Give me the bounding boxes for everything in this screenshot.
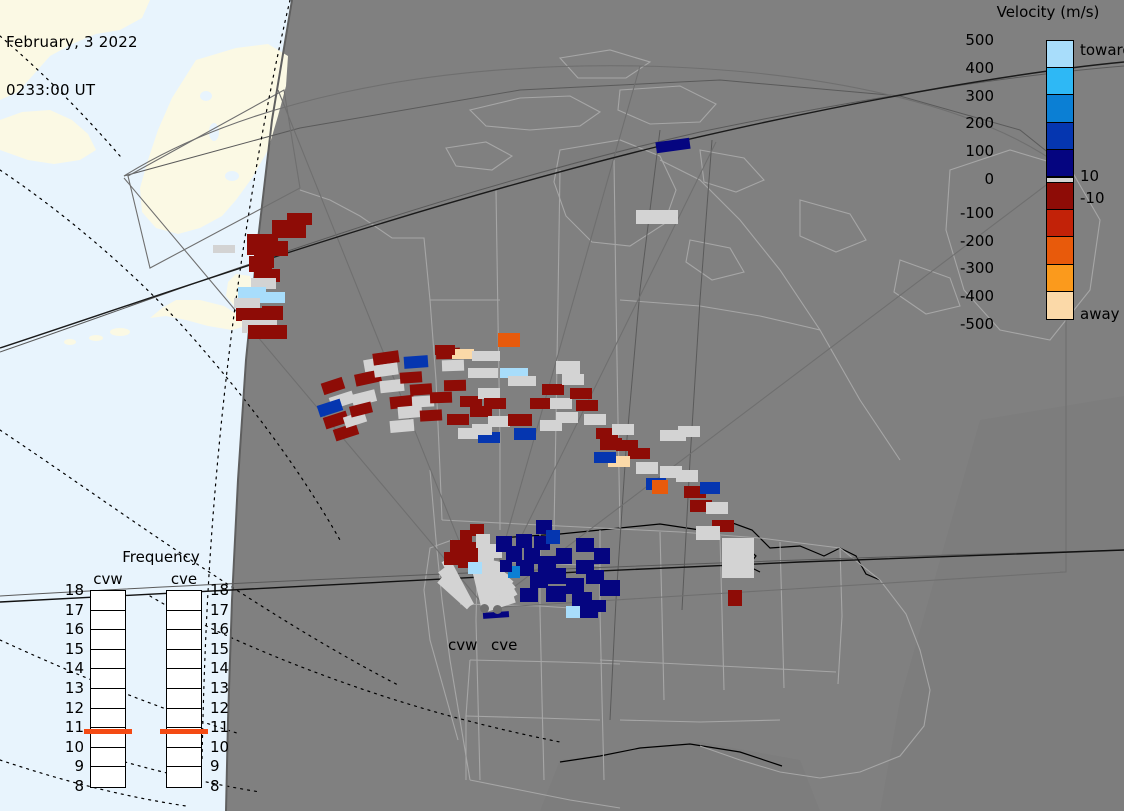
- frequency-scale-box-cve: [166, 590, 202, 788]
- colorbar-band-150: [1047, 123, 1073, 150]
- velocity-cell: [390, 419, 415, 433]
- frequency-scale-cell: [167, 591, 201, 611]
- frequency-tick-cvw-11: 11: [65, 718, 84, 736]
- velocity-cell: [594, 548, 610, 564]
- frequency-tick-cve-14: 14: [210, 659, 229, 677]
- velocity-cell: [546, 530, 560, 544]
- colorbar-label-away: away: [1080, 305, 1120, 323]
- velocity-cell: [594, 452, 616, 463]
- velocity-cell: [478, 388, 500, 399]
- velocity-cell: [452, 349, 474, 359]
- colorbar-band--350: [1047, 265, 1073, 292]
- velocity-cell: [516, 534, 532, 548]
- frequency-scale-cell: [167, 611, 201, 631]
- velocity-cell: [468, 368, 498, 378]
- velocity-cell: [562, 374, 584, 385]
- velocity-cell: [542, 384, 564, 395]
- colorbar-band--450: [1047, 292, 1073, 319]
- velocity-cell: [442, 360, 464, 372]
- velocity-cell: [498, 333, 520, 347]
- velocity-cell: [435, 345, 455, 355]
- velocity-colorbar-title: Velocity (m/s): [978, 3, 1118, 21]
- colorbar-tick-200: 200: [965, 114, 994, 132]
- velocity-cell: [213, 245, 235, 253]
- velocity-cell: [706, 502, 728, 514]
- velocity-cell: [576, 538, 594, 552]
- radar-site-label-cve: cve: [491, 636, 517, 654]
- radar-site-label-cvw: cvw: [448, 636, 477, 654]
- radar-site-marker-cvw[interactable]: [480, 604, 489, 613]
- frequency-scale-cell: [167, 650, 201, 670]
- frequency-tick-cve-18: 18: [210, 581, 229, 599]
- frequency-scale-cell: [91, 767, 125, 787]
- time-label: 0233:00 UT: [6, 82, 138, 98]
- velocity-cell: [484, 398, 506, 409]
- frequency-tick-cvw-13: 13: [65, 679, 84, 697]
- velocity-cell: [546, 586, 566, 602]
- frequency-column-label-cvw: cvw: [86, 570, 130, 588]
- frequency-marker-cve: [160, 729, 208, 734]
- colorbar-band-50: [1047, 150, 1073, 177]
- frequency-tick-cve-13: 13: [210, 679, 229, 697]
- frequency-scale-cell: [91, 689, 125, 709]
- frequency-tick-cvw-17: 17: [65, 601, 84, 619]
- colorbar-band--250: [1047, 237, 1073, 264]
- frequency-scale-cell: [167, 767, 201, 787]
- colorbar-tick--200: -200: [960, 232, 994, 250]
- frequency-scale-cell: [91, 630, 125, 650]
- frequency-column-label-cve: cve: [162, 570, 206, 588]
- velocity-cell: [420, 409, 443, 421]
- colorbar-tick--500: -500: [960, 315, 994, 333]
- velocity-cell: [476, 534, 490, 548]
- frequency-tick-cvw-10: 10: [65, 738, 84, 756]
- velocity-cell: [508, 376, 536, 386]
- colorbar-tick-300: 300: [965, 87, 994, 105]
- date-label: February, 3 2022: [6, 34, 138, 50]
- velocity-cell: [556, 361, 580, 374]
- velocity-cell: [566, 606, 580, 618]
- frequency-scale-cell: [167, 689, 201, 709]
- velocity-cell: [321, 377, 346, 395]
- radar-site-marker-cve[interactable]: [493, 605, 502, 614]
- colorbar-band--50: [1047, 183, 1073, 210]
- velocity-cell: [287, 213, 312, 225]
- velocity-cell: [520, 588, 538, 602]
- velocity-cell: [566, 578, 584, 594]
- velocity-cell: [576, 400, 598, 411]
- colorbar-band-450: [1047, 41, 1073, 68]
- velocity-cell: [400, 371, 423, 384]
- velocity-cell: [447, 414, 469, 425]
- velocity-cell: [678, 426, 700, 437]
- frequency-tick-cve-8: 8: [210, 777, 220, 795]
- velocity-cell: [530, 572, 548, 588]
- frequency-scale-cell: [91, 611, 125, 631]
- frequency-scale-cell: [91, 709, 125, 729]
- frequency-scale-cell: [167, 748, 201, 768]
- frequency-scale-cell: [167, 669, 201, 689]
- velocity-cell: [349, 402, 373, 418]
- frequency-tick-cvw-8: 8: [74, 777, 84, 795]
- colorbar-tick--400: -400: [960, 287, 994, 305]
- frequency-tick-cvw-15: 15: [65, 640, 84, 658]
- colorbar-label-toward: toward: [1080, 41, 1124, 59]
- frequency-legend: Frequency cvw18171615141312111098cve1817…: [86, 548, 236, 788]
- velocity-cell: [722, 538, 754, 578]
- velocity-cell: [444, 380, 466, 391]
- frequency-scale-cell: [91, 669, 125, 689]
- frequency-scale-cell: [91, 650, 125, 670]
- velocity-cells: [213, 138, 754, 619]
- velocity-cell: [600, 580, 620, 596]
- colorbar-label-zero-lower: -10: [1080, 189, 1105, 207]
- colorbar-tick-100: 100: [965, 142, 994, 160]
- velocity-cell: [500, 560, 512, 572]
- velocity-cell: [655, 138, 690, 154]
- velocity-cell: [584, 414, 606, 425]
- velocity-cell: [592, 600, 606, 612]
- frequency-tick-cve-9: 9: [210, 757, 220, 775]
- velocity-cell: [570, 388, 592, 399]
- frequency-scale-cell: [91, 748, 125, 768]
- frequency-tick-cvw-16: 16: [65, 620, 84, 638]
- frequency-tick-cvw-12: 12: [65, 699, 84, 717]
- frequency-tick-cve-15: 15: [210, 640, 229, 658]
- colorbar-tick-500: 500: [965, 31, 994, 49]
- velocity-cell: [700, 482, 720, 494]
- velocity-cell: [404, 355, 429, 369]
- velocity-cell: [728, 590, 742, 606]
- frequency-tick-cvw-9: 9: [74, 757, 84, 775]
- velocity-cell: [472, 424, 492, 435]
- frequency-tick-cve-12: 12: [210, 699, 229, 717]
- velocity-colorbar: Velocity (m/s) 5004003002001000-100-200-…: [960, 0, 1124, 340]
- velocity-cell: [696, 526, 720, 540]
- colorbar-label-zero-upper: 10: [1080, 167, 1099, 185]
- frequency-legend-title: Frequency: [86, 548, 236, 566]
- velocity-cell: [540, 420, 562, 431]
- frequency-tick-cvw-18: 18: [65, 581, 84, 599]
- velocity-cell: [514, 428, 536, 440]
- colorbar-band-350: [1047, 68, 1073, 95]
- frequency-scale-cell: [91, 591, 125, 611]
- velocity-cell: [508, 414, 532, 426]
- timestamp-block: February, 3 2022 0233:00 UT: [6, 2, 138, 130]
- frequency-tick-cve-11: 11: [210, 718, 229, 736]
- velocity-cell: [556, 548, 572, 564]
- velocity-cell: [234, 298, 260, 308]
- velocity-cell: [472, 351, 500, 361]
- colorbar-tick--100: -100: [960, 204, 994, 222]
- velocity-colorbar-swatches: [1046, 40, 1074, 320]
- velocity-cell: [263, 241, 288, 256]
- velocity-cell: [612, 424, 634, 435]
- colorbar-tick-400: 400: [965, 59, 994, 77]
- frequency-scale-cell: [167, 709, 201, 729]
- velocity-cell: [430, 392, 452, 404]
- frequency-marker-cvw: [84, 729, 132, 734]
- frequency-scale-box-cvw: [90, 590, 126, 788]
- colorbar-band-250: [1047, 95, 1073, 122]
- velocity-cell: [550, 398, 572, 409]
- colorbar-tick-0: 0: [984, 170, 994, 188]
- frequency-tick-cve-17: 17: [210, 601, 229, 619]
- velocity-cell: [652, 480, 668, 494]
- colorbar-band--150: [1047, 210, 1073, 237]
- velocity-cell: [636, 462, 658, 474]
- velocity-cell: [468, 562, 482, 574]
- velocity-cell: [249, 256, 272, 272]
- colorbar-tick--300: -300: [960, 259, 994, 277]
- frequency-tick-cvw-14: 14: [65, 659, 84, 677]
- velocity-cell: [548, 568, 566, 584]
- velocity-tick-labels: 5004003002001000-100-200-300-400-500: [960, 40, 1040, 320]
- velocity-cell: [676, 470, 698, 482]
- velocity-cell: [628, 448, 650, 459]
- frequency-tick-cve-10: 10: [210, 738, 229, 756]
- velocity-cell: [636, 210, 678, 224]
- frequency-tick-cve-16: 16: [210, 620, 229, 638]
- velocity-cell: [248, 325, 287, 339]
- fan-plot-canvas: February, 3 2022 0233:00 UT cvwcve Veloc…: [0, 0, 1124, 811]
- velocity-cell: [530, 398, 552, 409]
- velocity-cell: [262, 306, 283, 320]
- velocity-cell: [410, 383, 433, 396]
- velocity-cell: [506, 546, 522, 562]
- frequency-scale-cell: [167, 630, 201, 650]
- velocity-direction-labels: toward10-10away: [1078, 40, 1124, 330]
